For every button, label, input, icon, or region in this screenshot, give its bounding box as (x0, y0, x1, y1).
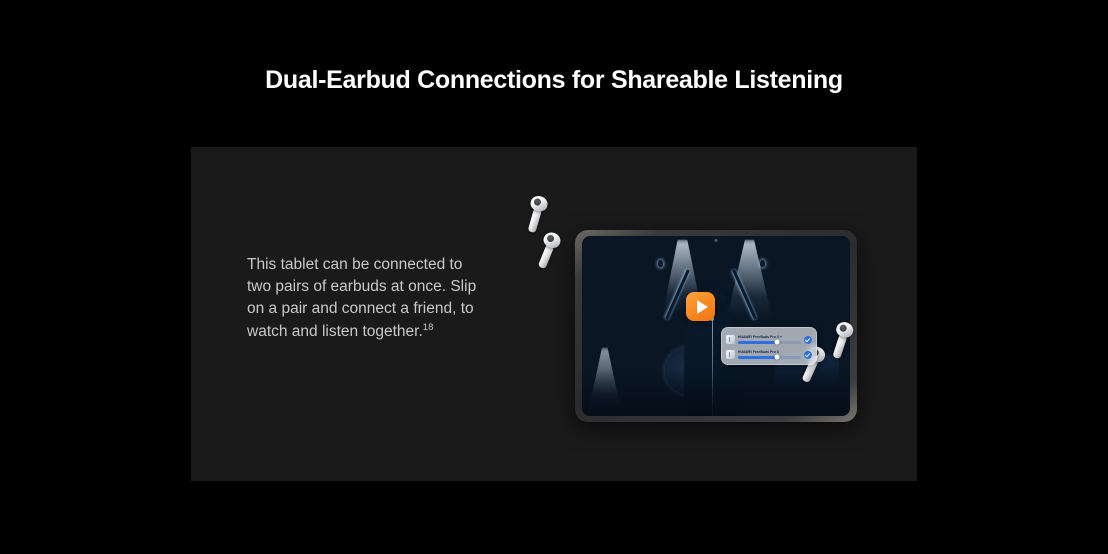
tablet-screen (582, 236, 850, 416)
earbuds-icon (726, 335, 735, 344)
device-row[interactable]: HUAWEI FreeBuds Pro 3 + (726, 332, 812, 347)
earbuds-icon (726, 350, 735, 359)
volume-slider[interactable] (738, 356, 801, 359)
feature-description: This tablet can be connected to two pair… (247, 254, 483, 343)
volume-slider-fill (738, 341, 777, 344)
page-title: Dual-Earbud Connections for Shareable Li… (0, 66, 1108, 95)
volume-slider[interactable] (738, 341, 801, 344)
tablet-device (575, 230, 857, 422)
front-camera-icon (715, 239, 718, 242)
feature-description-text: This tablet can be connected to two pair… (247, 256, 476, 340)
video-player-icon[interactable] (686, 292, 715, 321)
play-triangle-icon (697, 300, 708, 314)
feature-panel: This tablet can be connected to two pair… (191, 147, 917, 481)
device-name: HUAWEI FreeBuds Pro 3 + (738, 335, 801, 339)
footnote-marker: 18 (423, 321, 434, 332)
volume-slider-knob[interactable] (775, 355, 780, 360)
device-name: HUAWEI FreeBuds Pro 3 (738, 350, 801, 354)
performer-hand-right (760, 260, 765, 267)
volume-slider-knob[interactable] (775, 340, 780, 345)
device-row[interactable]: HUAWEI FreeBuds Pro 3 (726, 347, 812, 362)
performer-hand-left (658, 260, 663, 267)
device-scene: HUAWEI FreeBuds Pro 3 + HUAWEI FreeBuds … (531, 192, 901, 437)
promo-page: Dual-Earbud Connections for Shareable Li… (0, 0, 1108, 554)
device-connection-popup[interactable]: HUAWEI FreeBuds Pro 3 + HUAWEI FreeBuds … (721, 327, 817, 365)
performer-arm-right (732, 269, 756, 319)
connected-check-icon[interactable] (804, 351, 812, 359)
connected-check-icon[interactable] (804, 336, 812, 344)
volume-slider-fill (738, 356, 777, 359)
earbud-tip (529, 194, 549, 213)
